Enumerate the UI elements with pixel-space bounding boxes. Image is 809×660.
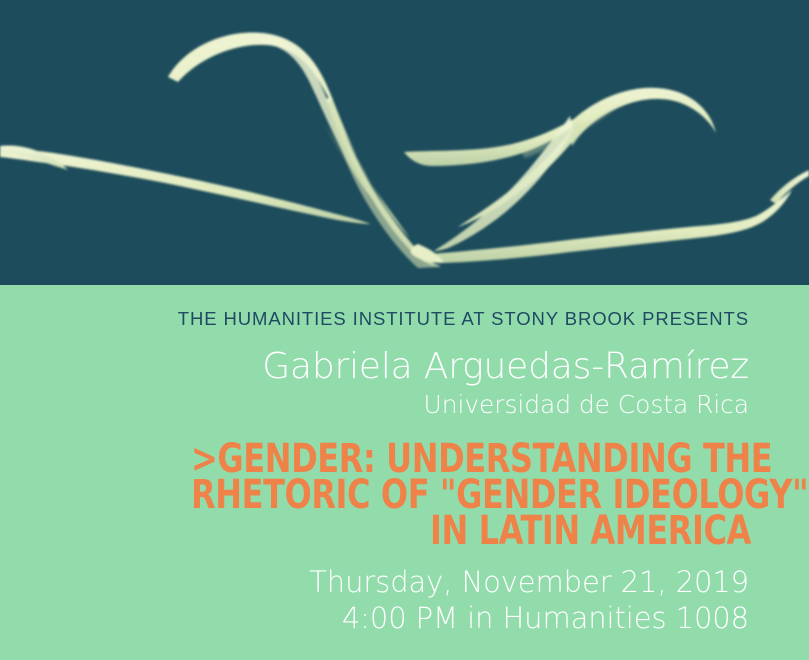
event-date: Thursday, November 21, 2019 bbox=[309, 565, 749, 599]
hero-artwork-svg bbox=[0, 0, 809, 285]
event-poster: THE HUMANITIES INSTITUTE AT STONY BROOK … bbox=[0, 0, 809, 660]
hero-image bbox=[0, 0, 809, 285]
speaker-name: Gabriela Arguedas-Ramírez bbox=[262, 346, 749, 387]
presenting-organization: THE HUMANITIES INSTITUTE AT STONY BROOK … bbox=[178, 308, 749, 330]
talk-title: >GENDER: UNDERSTANDING THE RHETORIC OF "… bbox=[191, 441, 751, 549]
talk-title-line-3: IN LATIN AMERICA bbox=[191, 513, 751, 549]
poster-content: THE HUMANITIES INSTITUTE AT STONY BROOK … bbox=[0, 285, 809, 660]
event-time-location: 4:00 PM in Humanities 1008 bbox=[342, 601, 749, 635]
speaker-affiliation: Universidad de Costa Rica bbox=[424, 390, 749, 419]
